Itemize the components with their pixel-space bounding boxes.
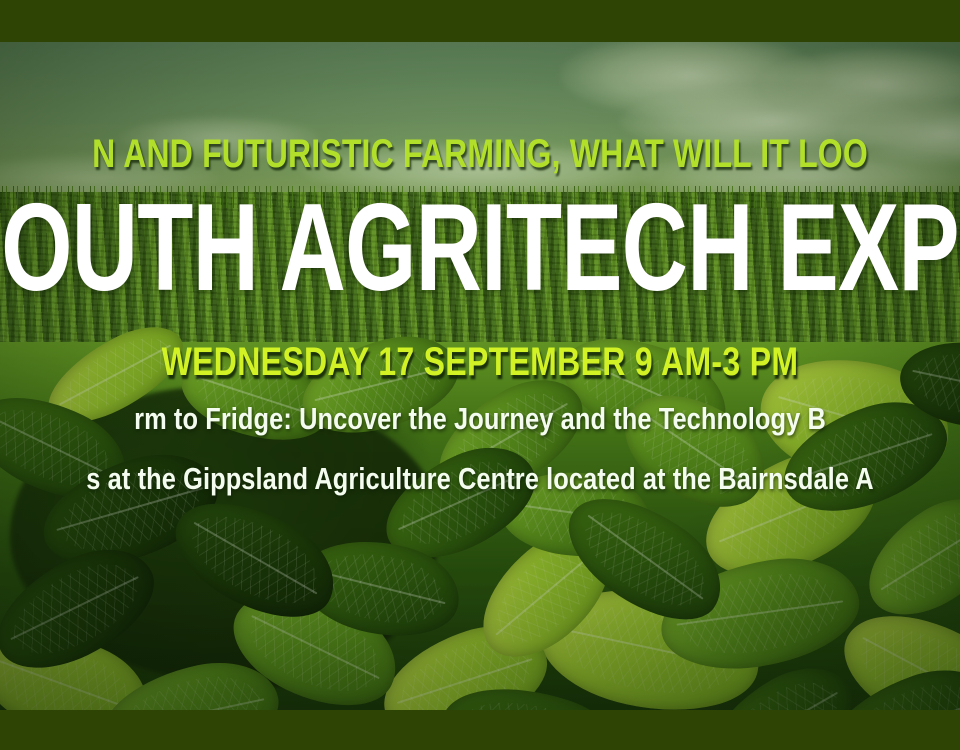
event-promo-banner: N AND FUTURISTIC FARMING, WHAT WILL IT L… bbox=[0, 0, 960, 750]
vignette-overlay bbox=[0, 42, 960, 710]
top-olive-bar bbox=[0, 0, 960, 42]
background-photo bbox=[0, 42, 960, 710]
bottom-olive-bar bbox=[0, 710, 960, 750]
